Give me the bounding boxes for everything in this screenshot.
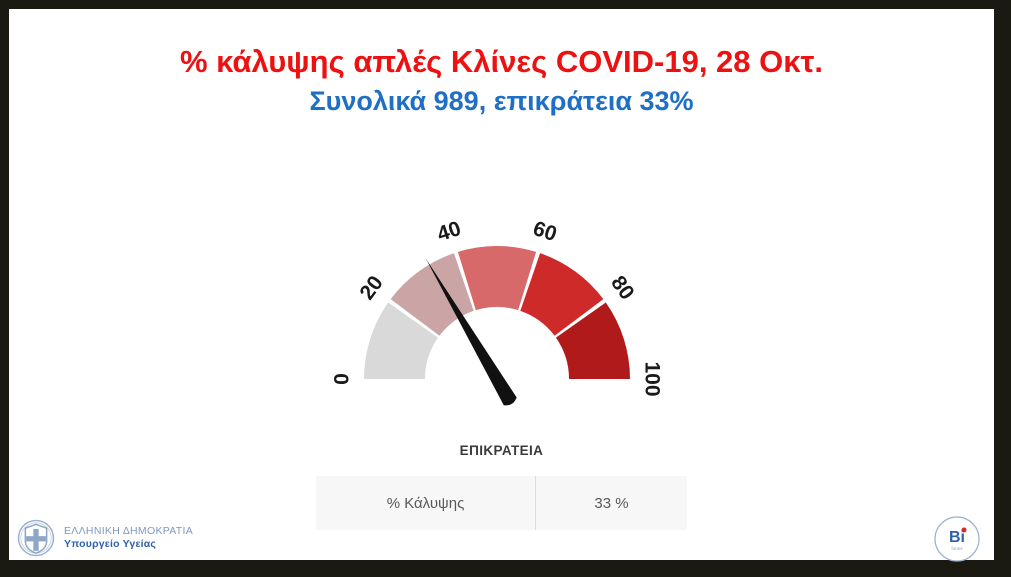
gauge-tick-40: 40 bbox=[434, 217, 463, 246]
ministry-line-1: ΕΛΛΗΝΙΚΗ ΔΗΜΟΚΡΑΤΙΑ bbox=[64, 525, 193, 538]
gauge-svg: 020406080100 bbox=[311, 159, 691, 419]
ministry-logo: ΕΛΛΗΝΙΚΗ ΔΗΜΟΚΡΑΤΙΑ Υπουργείο Υγείας bbox=[17, 514, 247, 562]
ministry-line-2: Υπουργείο Υγείας bbox=[64, 538, 193, 551]
gauge-tick-0: 0 bbox=[331, 373, 354, 385]
gauge-tick-20: 20 bbox=[355, 272, 387, 304]
value-table: % Κάλυψης 33 % bbox=[316, 476, 687, 530]
gauge-tick-60: 60 bbox=[530, 217, 559, 246]
slide-canvas: % κάλυψης απλές Κλίνες COVID-19, 28 Οκτ.… bbox=[9, 9, 994, 560]
ministry-text: ΕΛΛΗΝΙΚΗ ΔΗΜΟΚΡΑΤΙΑ Υπουργείο Υγείας bbox=[64, 525, 193, 551]
table-cell-value: 33 % bbox=[536, 476, 687, 530]
bi-logo-icon: Bi forms bbox=[932, 514, 982, 564]
table-cell-label: % Κάλυψης bbox=[316, 476, 536, 530]
svg-text:forms: forms bbox=[951, 546, 963, 551]
greek-republic-emblem-icon bbox=[17, 519, 55, 557]
page-title: % κάλυψης απλές Κλίνες COVID-19, 28 Οκτ. bbox=[9, 42, 994, 82]
gauge-caption-label: ΕΠΙΚΡΑΤΕΙΑ bbox=[9, 443, 994, 458]
title-block: % κάλυψης απλές Κλίνες COVID-19, 28 Οκτ.… bbox=[9, 42, 994, 120]
gauge-tick-100: 100 bbox=[641, 361, 664, 396]
gauge-bands bbox=[364, 246, 630, 379]
gauge-tick-80: 80 bbox=[606, 272, 638, 304]
gauge-chart: 020406080100 bbox=[311, 159, 691, 419]
page-subtitle: Συνολικά 989, επικράτεια 33% bbox=[9, 82, 994, 120]
